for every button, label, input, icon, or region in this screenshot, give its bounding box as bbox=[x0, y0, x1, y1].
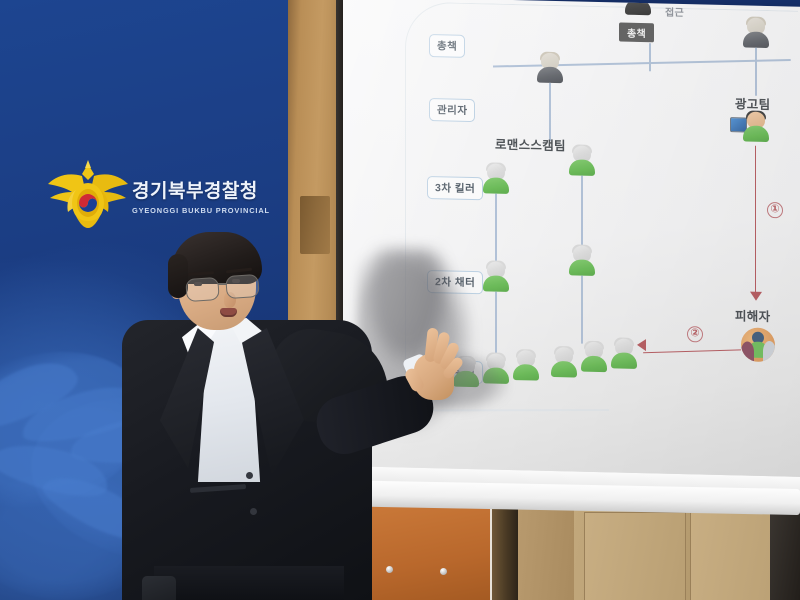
police-emblem-icon bbox=[46, 158, 130, 230]
pointing-hand bbox=[408, 328, 460, 402]
cabinet-knob-right[interactable] bbox=[440, 568, 447, 575]
lens-right bbox=[225, 274, 260, 299]
presenter-figure bbox=[120, 236, 420, 600]
held-object bbox=[142, 576, 176, 600]
panel-inset-left bbox=[584, 512, 686, 600]
brand-name-english: GYEONGGI BUKBU PROVINCIAL bbox=[132, 206, 292, 215]
glasses-bridge bbox=[218, 283, 227, 285]
eyeglasses-icon bbox=[182, 274, 266, 296]
wood-panel-left bbox=[518, 498, 574, 600]
jacket-button-top bbox=[246, 472, 253, 479]
trousers bbox=[154, 566, 344, 600]
backdrop-brand: 경기북부경찰청 GYEONGGI BUKBU PROVINCIAL bbox=[132, 176, 292, 215]
lens-left bbox=[185, 277, 220, 302]
jacket-button-bottom bbox=[250, 508, 257, 515]
brand-name-korean: 경기북부경찰청 bbox=[132, 176, 292, 203]
mouth bbox=[220, 308, 237, 317]
cabinet-gap-shadow bbox=[488, 498, 518, 600]
briefing-room-scene: 경기북부경찰청 GYEONGGI BUKBU PROVINCIAL 총책 관리자… bbox=[0, 0, 800, 600]
